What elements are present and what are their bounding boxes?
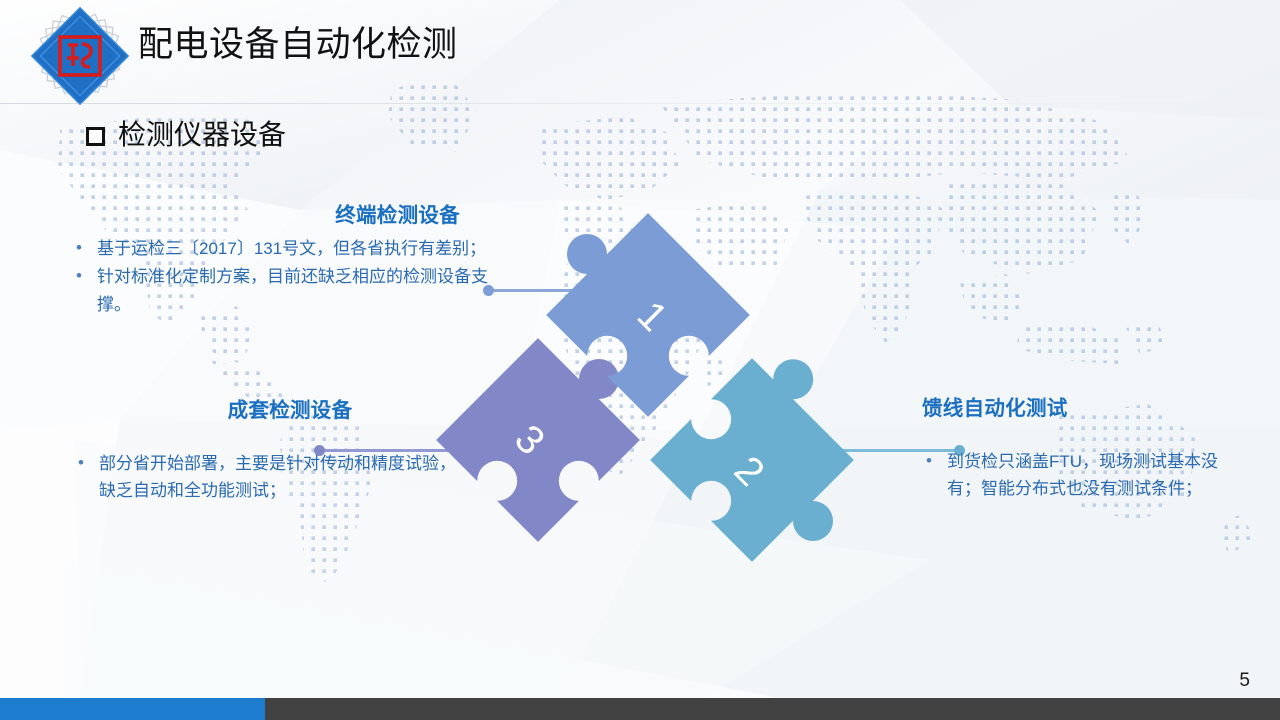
company-diamond-logo bbox=[22, 6, 138, 110]
puzzle-piece-2[interactable]: 2 bbox=[650, 334, 902, 586]
block-heading-feeder: 馈线自动化测试 bbox=[922, 396, 1242, 422]
text-block-complete: 成套检测设备 部分省开始部署，主要是针对传动和精度试验，缺乏自动和全功能测试； bbox=[60, 398, 460, 505]
slide-header: 配电设备自动化检测 bbox=[0, 0, 1280, 104]
footer-accent-segment bbox=[0, 698, 265, 720]
slide-canvas: 配电设备自动化检测 检测仪器设备 3 2 bbox=[0, 0, 1280, 720]
section-subtitle: 检测仪器设备 bbox=[86, 118, 286, 152]
block-heading-terminal: 终端检测设备 bbox=[72, 203, 492, 229]
footer-dark-segment bbox=[265, 698, 1280, 720]
block-heading-complete: 成套检测设备 bbox=[60, 398, 460, 424]
list-item: 到货检只涵盖FTU，现场测试基本没有；智能分布式也没有测试条件； bbox=[922, 448, 1242, 503]
square-bullet-icon bbox=[86, 127, 105, 146]
list-item: 部分省开始部署，主要是针对传动和精度试验，缺乏自动和全功能测试； bbox=[74, 450, 460, 505]
list-item: 基于运检三〔2017〕131号文，但各省执行有差别； bbox=[72, 235, 492, 263]
header-divider bbox=[0, 103, 1280, 104]
bullet-list-feeder: 到货检只涵盖FTU，现场测试基本没有；智能分布式也没有测试条件； bbox=[922, 448, 1242, 503]
bullet-list-terminal: 基于运检三〔2017〕131号文，但各省执行有差别； 针对标准化定制方案，目前还… bbox=[72, 235, 492, 319]
footer-bar bbox=[0, 698, 1280, 720]
list-item: 针对标准化定制方案，目前还缺乏相应的检测设备支撑。 bbox=[72, 263, 492, 318]
bullet-list-complete: 部分省开始部署，主要是针对传动和精度试验，缺乏自动和全功能测试； bbox=[60, 450, 460, 505]
text-block-feeder: 馈线自动化测试 到货检只涵盖FTU，现场测试基本没有；智能分布式也没有测试条件； bbox=[922, 396, 1242, 503]
page-title: 配电设备自动化检测 bbox=[138, 24, 458, 66]
page-number: 5 bbox=[1239, 671, 1250, 690]
puzzle-graphic: 3 2 1 bbox=[430, 215, 890, 565]
section-subtitle-label: 检测仪器设备 bbox=[118, 118, 286, 152]
text-block-terminal: 终端检测设备 基于运检三〔2017〕131号文，但各省执行有差别； 针对标准化定… bbox=[72, 203, 492, 318]
